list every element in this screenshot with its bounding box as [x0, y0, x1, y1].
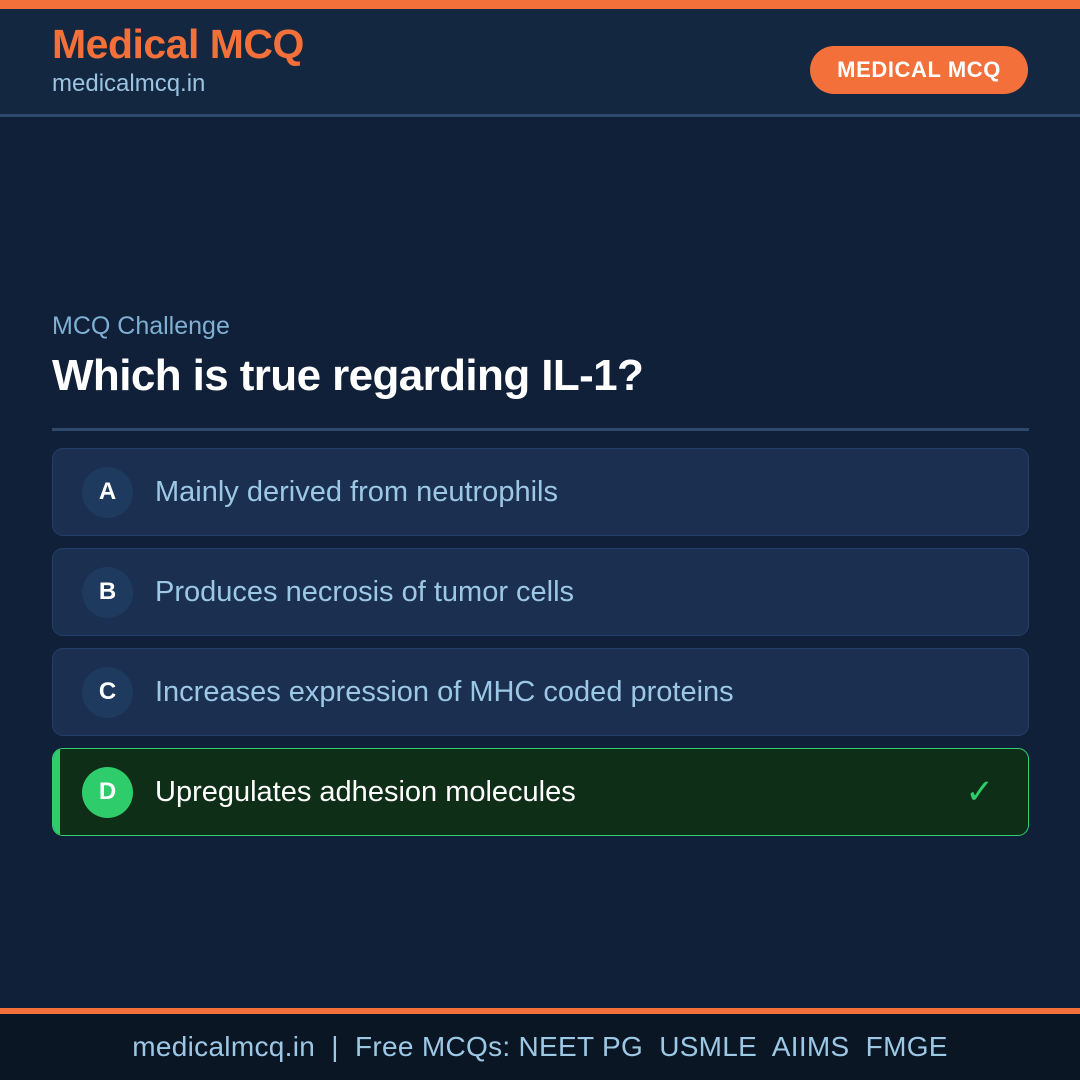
header-badge: MEDICAL MCQ — [810, 46, 1028, 94]
brand-block: Medical MCQ medicalmcq.in — [52, 20, 304, 99]
option-letter-badge: C — [82, 667, 133, 718]
option-label: Increases expression of MHC coded protei… — [155, 674, 966, 710]
option-letter-badge: B — [82, 567, 133, 618]
option-letter-badge: D — [82, 767, 133, 818]
page-title: Which is true regarding IL-1? — [52, 346, 1029, 406]
option-row-a[interactable]: A Mainly derived from neutrophils ✓ — [52, 448, 1029, 536]
option-letter-badge: A — [82, 467, 133, 518]
page-footer: medicalmcq.in | Free MCQs: NEET PG USMLE… — [0, 1008, 1080, 1080]
eyebrow-label: MCQ Challenge — [52, 310, 1029, 342]
brand-title: Medical MCQ — [52, 20, 304, 68]
question-section: MCQ Challenge Which is true regarding IL… — [52, 310, 1029, 848]
option-label: Produces necrosis of tumor cells — [155, 574, 966, 610]
question-divider — [52, 428, 1029, 431]
option-row-d[interactable]: D Upregulates adhesion molecules ✓ — [52, 748, 1029, 836]
option-label: Upregulates adhesion molecules — [155, 774, 966, 810]
correct-accent-bar — [53, 749, 60, 836]
option-row-c[interactable]: C Increases expression of MHC coded prot… — [52, 648, 1029, 736]
page-header: Medical MCQ medicalmcq.in MEDICAL MCQ — [0, 9, 1080, 117]
footer-text: medicalmcq.in | Free MCQs: NEET PG USMLE… — [132, 1031, 948, 1063]
options-list: A Mainly derived from neutrophils ✓ B Pr… — [52, 448, 1029, 836]
option-row-b[interactable]: B Produces necrosis of tumor cells ✓ — [52, 548, 1029, 636]
top-accent-bar — [0, 0, 1080, 9]
brand-subtitle: medicalmcq.in — [52, 69, 304, 99]
option-label: Mainly derived from neutrophils — [155, 474, 966, 510]
check-icon: ✓ — [966, 775, 995, 809]
